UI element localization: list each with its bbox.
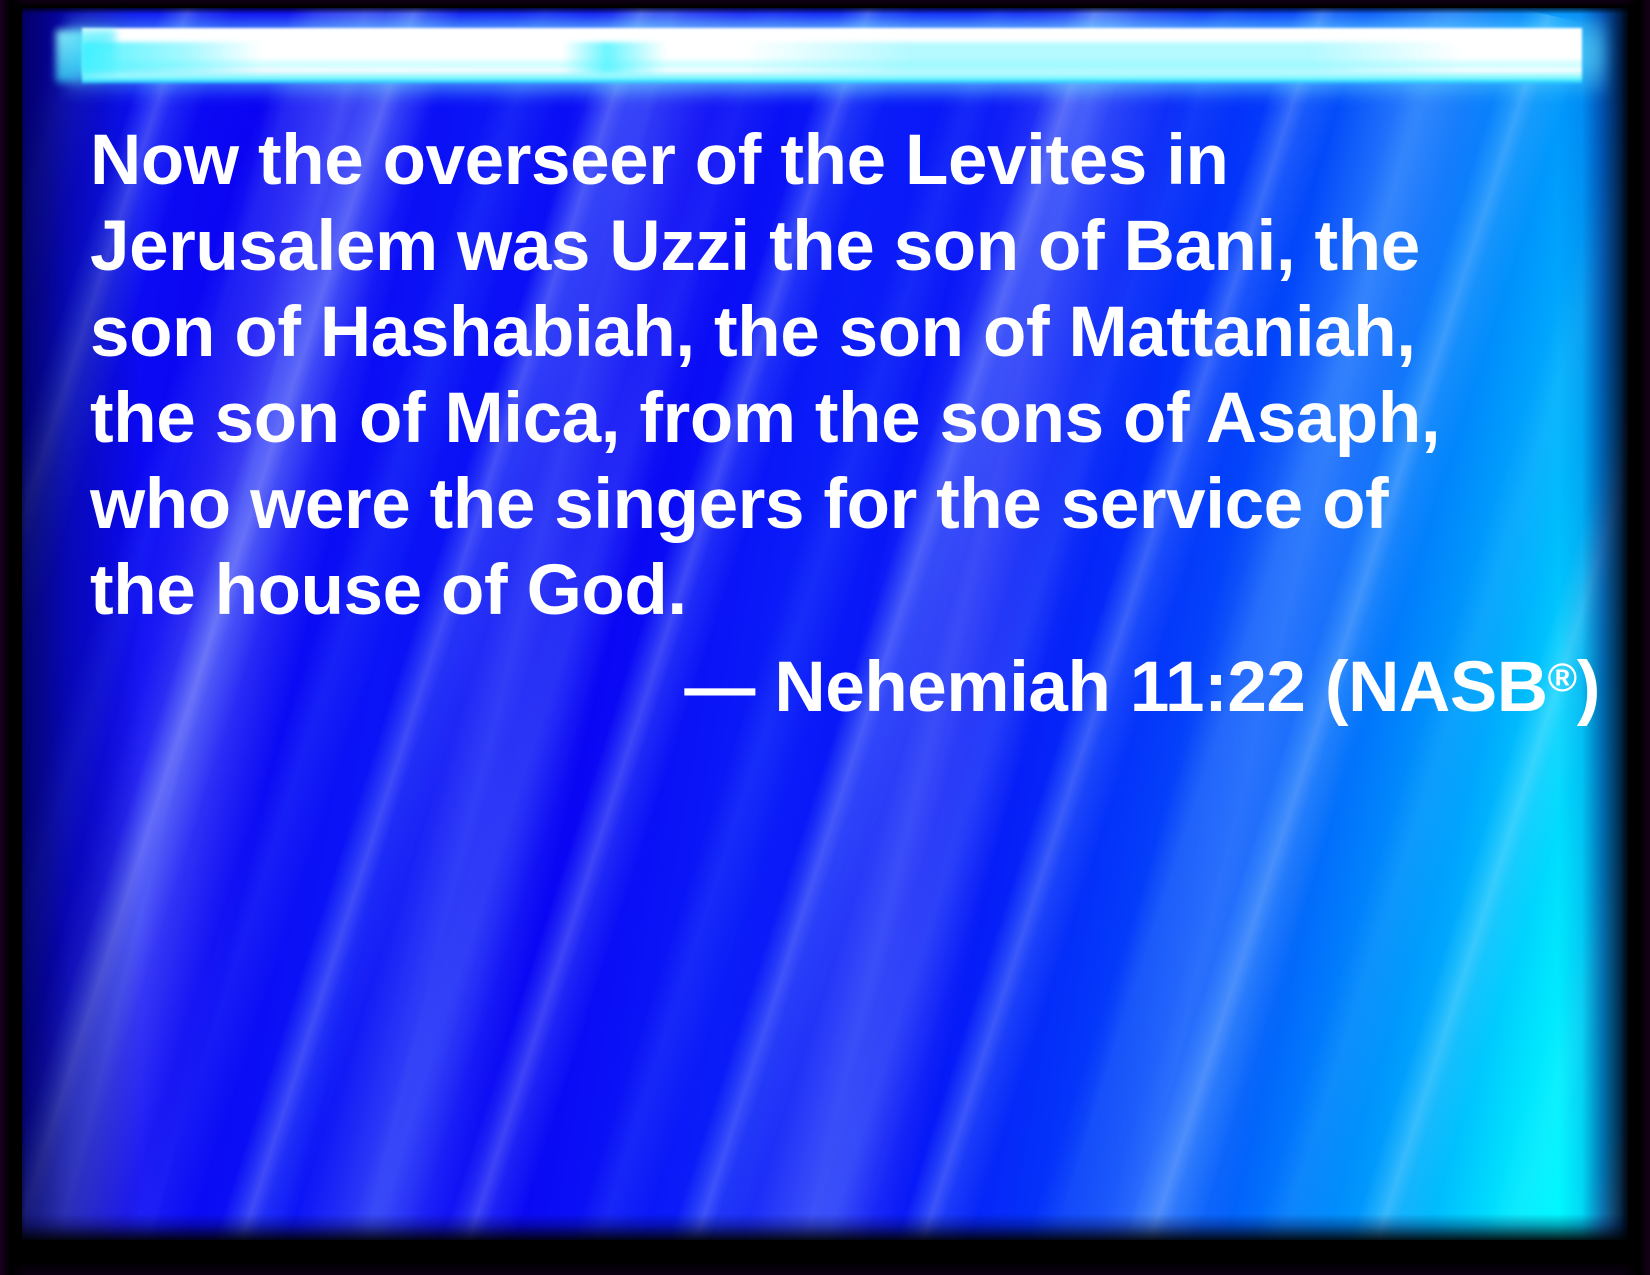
background-bottom-shadow xyxy=(22,1214,1628,1240)
verse-text-block: Now the overseer of the Levites in Jerus… xyxy=(90,118,1600,634)
slide-canvas: Now the overseer of the Levites in Jerus… xyxy=(22,8,1628,1240)
attribution-translation-open: (NASB xyxy=(1325,648,1548,727)
registered-trademark-icon: ® xyxy=(1548,656,1577,700)
attribution-dash: — xyxy=(684,648,755,727)
verse-line: Jerusalem was Uzzi the son of Bani, the xyxy=(90,204,1600,290)
verse-line: who were the singers for the service of xyxy=(90,462,1600,548)
verse-line: the house of God. xyxy=(90,548,1600,634)
attribution-reference: 11:22 xyxy=(1130,648,1306,727)
top-glow-wisps xyxy=(82,42,1582,74)
scripture-slide: Now the overseer of the Levites in Jerus… xyxy=(0,0,1650,1275)
attribution-space xyxy=(755,648,774,727)
verse-attribution: — Nehemiah 11:22 (NASB®) xyxy=(90,635,1600,731)
attribution-space-3 xyxy=(1306,648,1325,727)
attribution-book: Nehemiah xyxy=(774,648,1110,727)
verse-line: the son of Mica, from the sons of Asaph, xyxy=(90,376,1600,462)
attribution-space-2 xyxy=(1111,648,1130,727)
attribution-translation-close: ) xyxy=(1577,648,1600,727)
verse-line: son of Hashabiah, the son of Mattaniah, xyxy=(90,290,1600,376)
verse-line: Now the overseer of the Levites in xyxy=(90,118,1600,204)
